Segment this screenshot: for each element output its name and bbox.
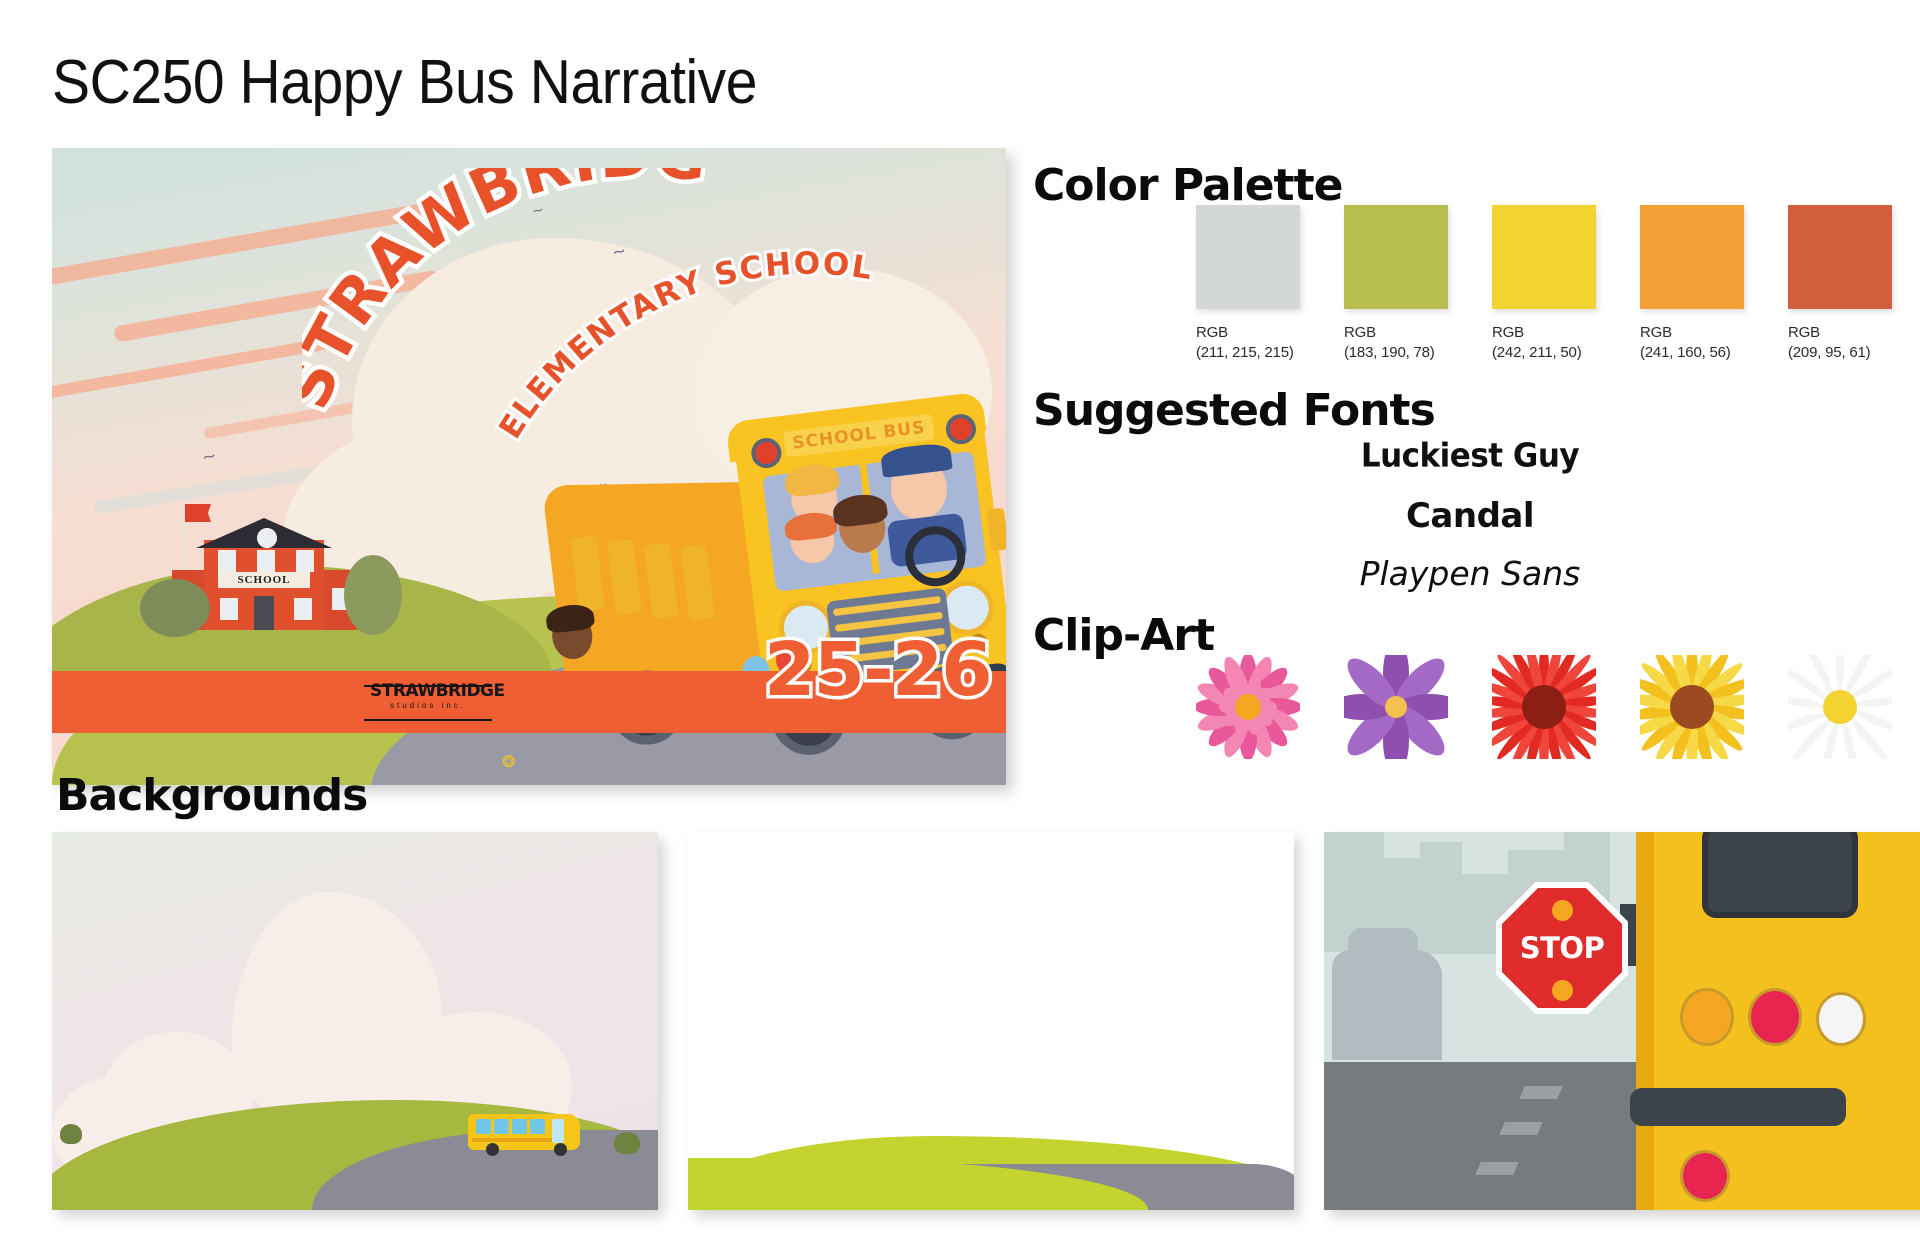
flower-icon: ❂ (502, 752, 515, 772)
suggested-fonts-heading: Suggested Fonts (1033, 385, 1435, 436)
bg1-bush (60, 1124, 82, 1144)
school-window (294, 598, 312, 620)
bg3-building (1420, 842, 1462, 954)
bg3-bus-red-light (1748, 988, 1802, 1046)
cover-artwork-thumbnail[interactable]: ∼ ∼ ∼ ∼ SCHOOL (52, 148, 1006, 785)
swatch-rgb-label: RGB(241, 160, 56) (1640, 323, 1744, 363)
school-year-text: 25-26 (764, 627, 991, 713)
swatch-olive-green[interactable]: RGB(183, 190, 78) (1344, 205, 1448, 363)
bg3-bus-bumper (1630, 1088, 1846, 1126)
swatch-rgb-label: RGB(183, 190, 78) (1344, 323, 1448, 363)
strawbridge-studios-logo: STRAWBRIDGE studios inc. (370, 683, 486, 723)
swatch-chip[interactable] (1196, 205, 1300, 309)
swatch-chip[interactable] (1788, 205, 1892, 309)
swatch-light-gray[interactable]: RGB(211, 215, 215) (1196, 205, 1300, 363)
bg3-road-dash (1499, 1122, 1543, 1135)
bg3-road-dash (1475, 1162, 1519, 1175)
mini-bus-wheel (554, 1143, 567, 1156)
clip-art-heading: Clip-Art (1033, 610, 1214, 661)
mini-bus-window (512, 1119, 527, 1134)
school-window (218, 550, 236, 572)
swatch-orange[interactable]: RGB(241, 160, 56) (1640, 205, 1744, 363)
bush (344, 555, 402, 635)
yellow-sunflower-icon[interactable] (1640, 655, 1744, 759)
swatch-yellow[interactable]: RGB(242, 211, 50) (1492, 205, 1596, 363)
swatch-rgb-label: RGB(209, 95, 61) (1788, 323, 1892, 363)
bg3-bus-white-light (1816, 992, 1866, 1046)
bg3-stop-sign-lamp (1552, 980, 1573, 1001)
pink-lotus-flower-icon[interactable] (1196, 655, 1300, 759)
white-daisy-flower-icon[interactable] (1788, 655, 1892, 759)
school-window (257, 550, 275, 572)
mini-bus-window (494, 1119, 509, 1134)
bg1-bush (614, 1132, 640, 1154)
backgrounds-heading: Backgrounds (56, 770, 367, 821)
swatch-rgb-label: RGB(242, 211, 50) (1492, 323, 1596, 363)
background-thumbnail-stop-sign[interactable]: STOP (1324, 832, 1920, 1210)
stop-sign-text: STOP (1520, 931, 1605, 965)
bg3-bus-amber-light (1680, 988, 1734, 1046)
color-palette-heading: Color Palette (1033, 160, 1342, 211)
font-sample-playpen-sans: Playpen Sans (1190, 554, 1750, 593)
swatch-rgb-label: RGB(211, 215, 215) (1196, 323, 1300, 363)
mini-bus-window (530, 1119, 545, 1134)
swatch-red-orange[interactable]: RGB(209, 95, 61) (1788, 205, 1892, 363)
bg3-road-dash (1519, 1086, 1563, 1099)
bg1-mini-school-bus (468, 1108, 588, 1154)
school-window (296, 550, 314, 572)
bg3-car-roof (1348, 928, 1418, 968)
color-swatch-list: RGB(211, 215, 215)RGB(183, 190, 78)RGB(2… (1196, 205, 1892, 363)
style-guide-page: SC250 Happy Bus Narrative ∼ ∼ ∼ ∼ (0, 0, 1920, 1243)
background-thumbnail-plain-hill[interactable] (688, 832, 1294, 1210)
background-thumbnail-list: STOP (52, 832, 1920, 1210)
bush (140, 579, 210, 637)
school-door (254, 596, 274, 630)
flag-pole (182, 504, 185, 574)
school-round-window (257, 528, 277, 548)
clip-art-list (1196, 655, 1892, 759)
font-sample-luckiest-guy: Luckiest Guy (1190, 437, 1750, 475)
mini-bus-window (476, 1119, 491, 1134)
bg3-road (1324, 1062, 1642, 1210)
school-sign: SCHOOL (218, 572, 310, 588)
logo-sub-text: studios inc. (370, 700, 486, 712)
school-window (220, 598, 238, 620)
page-title: SC250 Happy Bus Narrative (52, 52, 757, 114)
font-sample-candal: Candal (1190, 496, 1750, 536)
purple-cosmos-flower-icon[interactable] (1344, 655, 1448, 759)
font-sample-list: Luckiest Guy Candal Playpen Sans (1190, 438, 1750, 593)
red-gerbera-flower-icon[interactable] (1492, 655, 1596, 759)
bg3-bus-lower-red-light (1680, 1150, 1730, 1202)
swatch-chip[interactable] (1492, 205, 1596, 309)
bg3-bus-window (1702, 832, 1858, 918)
bg3-stop-sign-lamp (1552, 900, 1573, 921)
swatch-chip[interactable] (1344, 205, 1448, 309)
bg3-bus-edge (1636, 832, 1654, 1210)
background-thumbnail-bus-on-hill[interactable] (52, 832, 658, 1210)
swatch-chip[interactable] (1640, 205, 1744, 309)
mini-bus-door (552, 1119, 564, 1143)
mini-bus-stripe (472, 1138, 552, 1142)
mini-bus-wheel (486, 1143, 499, 1156)
